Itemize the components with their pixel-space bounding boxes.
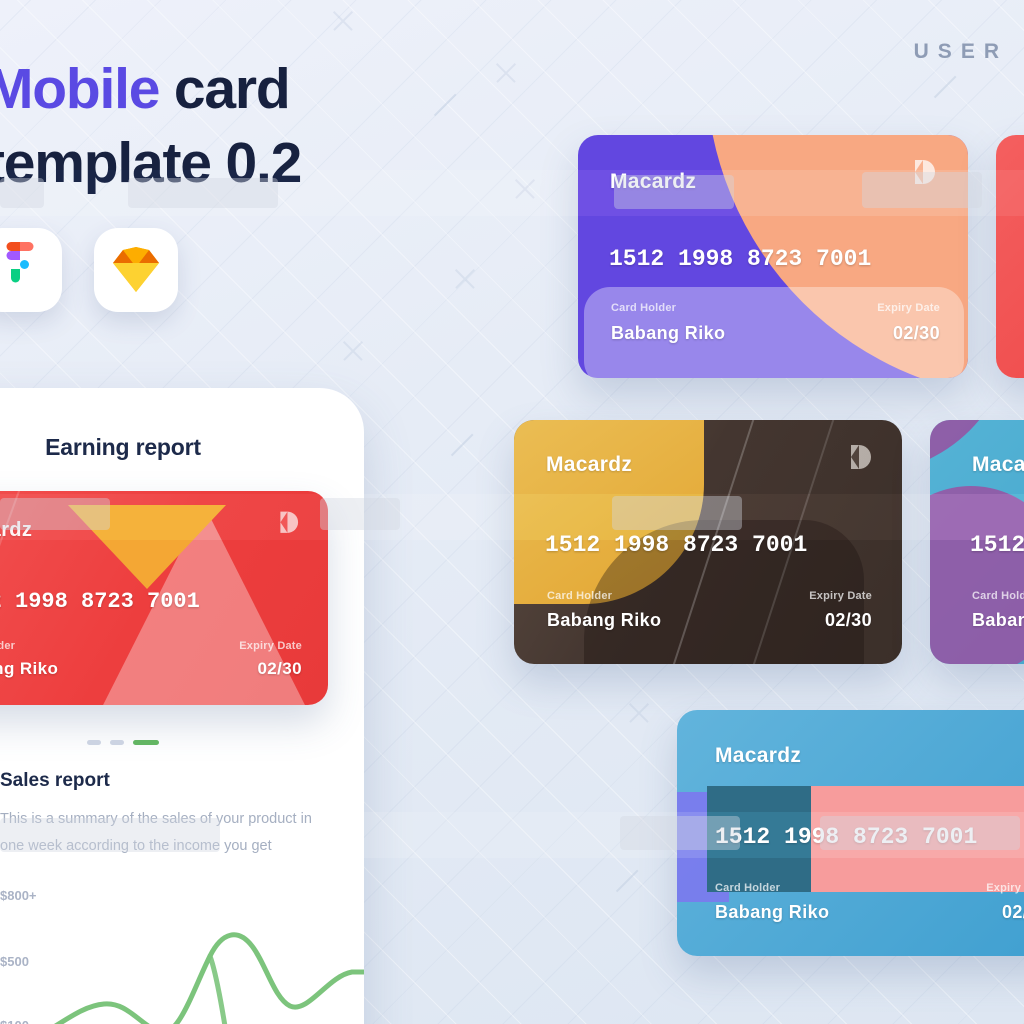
- card-holder-label: Card Holder: [972, 590, 1024, 602]
- card-brand-label: Macardz: [715, 744, 801, 768]
- card-holder-label: Card Holder: [715, 882, 780, 894]
- card-accent-purple-circle: [930, 486, 1024, 664]
- card-brand-label: Macardz: [0, 519, 32, 542]
- credit-card-red-edge[interactable]: Macardz 1512 1998 8723 7001 Card Holder …: [996, 135, 1024, 378]
- chart-y-tick-mid: $500: [0, 954, 29, 969]
- card-number: 1512 1998 8723 7001: [609, 246, 871, 272]
- section-title: Sales report: [0, 770, 110, 792]
- background-slash-mark: [616, 870, 638, 892]
- section-description: This is a summary of the sales of your p…: [0, 806, 330, 860]
- card-expiry-label: Expiry Date: [877, 302, 940, 314]
- pagination-dot-active[interactable]: [133, 740, 159, 745]
- pagination-dot[interactable]: [87, 740, 101, 745]
- background-slash-mark: [934, 76, 956, 98]
- card-logo-icon: [846, 442, 880, 481]
- card-holder-name: Babang Riko: [715, 902, 829, 923]
- background-x-mark: [626, 700, 652, 726]
- credit-card-blue[interactable]: Macardz 1512 1998 8723 7001 Card Holder …: [677, 710, 1024, 956]
- background-slash-mark: [434, 94, 456, 116]
- card-expiry-label: Expiry Date: [809, 590, 872, 602]
- page-title: Mobile card template 0.2: [0, 62, 416, 190]
- page-title-rest: card: [159, 57, 289, 121]
- card-expiry-value: 02/30: [893, 323, 940, 344]
- card-accent-orange-triangle: [68, 505, 226, 589]
- card-holder-name: Babang Riko: [547, 610, 661, 631]
- card-holder-label: Card Holder: [611, 302, 676, 314]
- card-number: 1512: [970, 532, 1024, 558]
- sales-chart: $800+ $500 $100: [0, 888, 364, 1024]
- card-holder-name: Babang Riko: [611, 323, 725, 344]
- background-slash-mark: [451, 434, 473, 456]
- card-brand-label: Macardz: [610, 170, 696, 194]
- credit-card-brown[interactable]: Macardz 1512 1998 8723 7001 Card Holder …: [514, 420, 902, 664]
- background-x-mark: [452, 266, 478, 292]
- card-holder-name: Babang: [972, 610, 1024, 631]
- card-expiry-value: 02/30: [825, 610, 872, 631]
- app-icon-row: [0, 228, 178, 312]
- card-logo-icon: [276, 509, 306, 544]
- background-x-mark: [493, 60, 519, 86]
- card-holder-name: Babang Riko: [0, 659, 58, 679]
- credit-card-teal[interactable]: Macardz 1512 Card Holder Babang Expiry D…: [930, 420, 1024, 664]
- chart-line: [42, 882, 364, 1024]
- card-expiry-value: 02/30: [1002, 902, 1024, 923]
- design-preview-canvas: Mobile card template 0.2: [0, 0, 1024, 1024]
- card-expiry-value: 02/30: [257, 659, 302, 679]
- card-expiry-label: Expiry Date: [986, 882, 1024, 894]
- carousel-pagination[interactable]: [0, 740, 364, 745]
- chart-y-tick-high: $800+: [0, 888, 37, 903]
- phone-mockup: ‹ Earning report Macardz 1512 1998 8723 …: [0, 388, 364, 1024]
- background-x-mark: [330, 8, 356, 34]
- sketch-icon[interactable]: [94, 228, 178, 312]
- user-label: USER: [914, 40, 1008, 64]
- background-x-mark: [340, 338, 366, 364]
- card-number: 1512 1998 8723 7001: [0, 589, 200, 614]
- figma-icon[interactable]: [0, 228, 62, 312]
- card-brand-label: Macardz: [972, 453, 1024, 477]
- credit-card-purple[interactable]: Macardz 1512 1998 8723 7001 Card Holder …: [578, 135, 968, 378]
- background-x-mark: [512, 176, 538, 202]
- pagination-dot[interactable]: [110, 740, 124, 745]
- phone-credit-card-red[interactable]: Macardz 1512 1998 8723 7001 Card Holder …: [0, 491, 328, 705]
- card-logo-icon: [910, 157, 944, 196]
- card-accent-gold-blob: [514, 420, 704, 604]
- page-title-line2: template 0.2: [0, 136, 416, 190]
- card-number: 1512 1998 8723 7001: [545, 532, 807, 558]
- card-expiry-label: Expiry Date: [239, 640, 302, 652]
- card-number: 1512 1998 8723 7001: [715, 824, 977, 850]
- page-title-accent: Mobile: [0, 57, 159, 121]
- card-brand-label: Macardz: [546, 453, 632, 477]
- chart-y-tick-low: $100: [0, 1018, 29, 1024]
- screen-title: Earning report: [0, 434, 364, 461]
- card-holder-label: Card Holder: [547, 590, 612, 602]
- card-holder-label: Card Holder: [0, 640, 15, 652]
